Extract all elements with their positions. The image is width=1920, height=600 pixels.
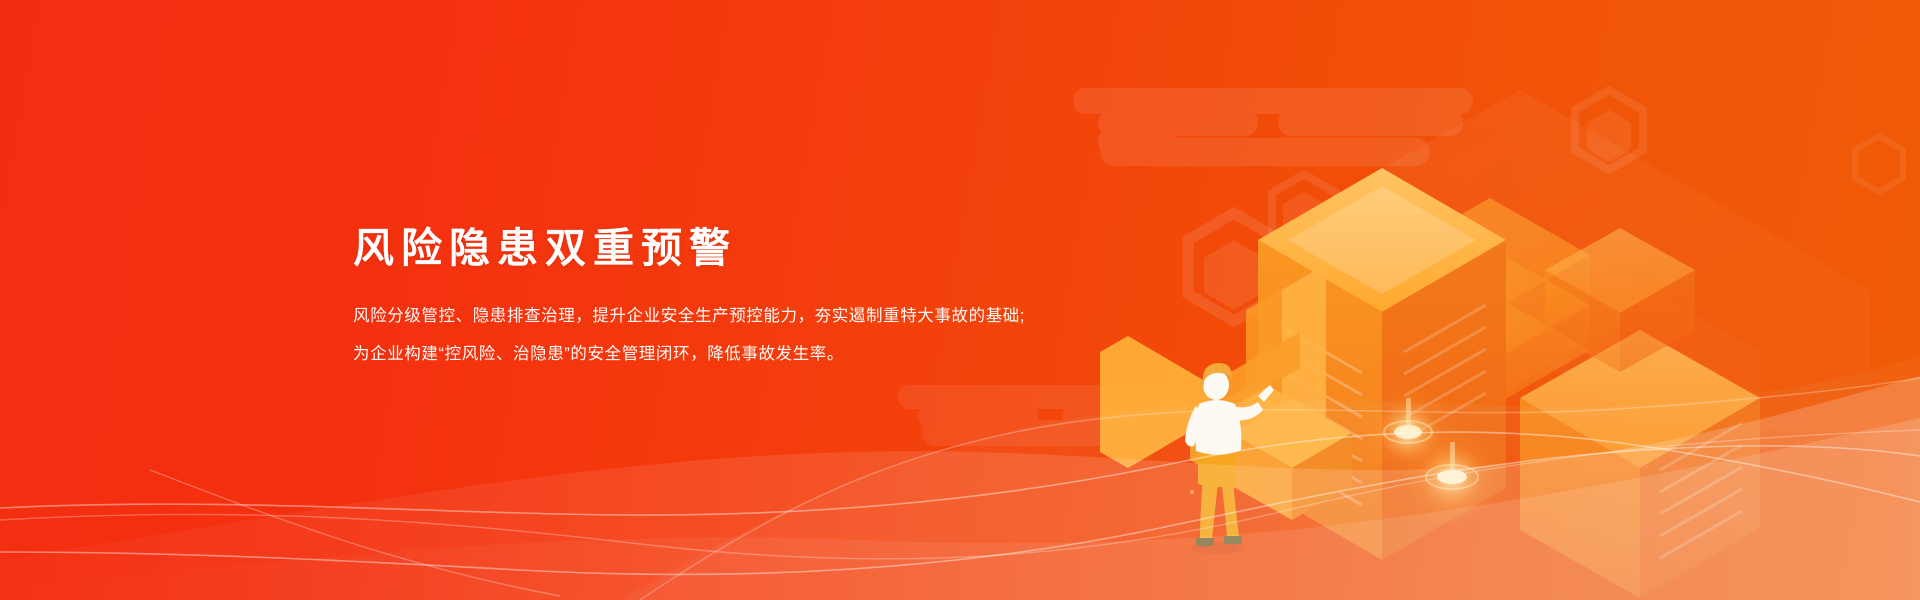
wave-band-2 (0, 418, 1920, 600)
person-shoes (1196, 536, 1242, 547)
banner-copy: 风险隐患双重预警 风险分级管控、隐患排查治理，提升企业安全生产预控能力，夯实遏制… (353, 222, 993, 373)
server-slots-main-right (1404, 305, 1486, 440)
glow-dot-right (1400, 425, 1504, 529)
person-pants (1198, 452, 1239, 540)
person-hair (1203, 363, 1232, 383)
wave-band-1 (0, 376, 1920, 600)
hero-banner: 风险隐患双重预警 风险分级管控、隐患排查治理，提升企业安全生产预控能力，夯实遏制… (0, 0, 1920, 600)
hex-cube-small (1575, 90, 1643, 170)
sparkle-dots (1190, 459, 1231, 503)
backdrop-iso-slab (1300, 90, 1870, 470)
person-shirt (1185, 400, 1241, 455)
person-hand (1258, 385, 1274, 402)
wave-line-2 (0, 446, 1920, 575)
wave-line-1 (0, 432, 1920, 515)
wave-band-3 (620, 356, 1920, 600)
cloud-motif-upper (1073, 88, 1473, 166)
server-slots-rear-right (1660, 423, 1742, 558)
hex-cube-large-inner (1204, 240, 1264, 310)
hex-cube-tiny (1855, 136, 1903, 192)
subtitle-line-1: 风险分级管控、隐患排查治理，提升企业安全生产预控能力，夯实遏制重特大事故的基础; (353, 297, 993, 335)
hex-cube-medium-inner (1283, 192, 1325, 241)
hex-cube-small-inner (1587, 110, 1631, 162)
page-title: 风险隐患双重预警 (353, 222, 993, 274)
hex-cube-large (1188, 213, 1280, 321)
iso-arrow-slab (1100, 332, 1300, 468)
server-tower-main (1258, 168, 1506, 560)
iso-box-foreground (1232, 399, 1352, 520)
server-cube-lower-right (1545, 228, 1695, 372)
person-shadow (1191, 542, 1243, 554)
iso-wing-left (1246, 264, 1326, 446)
iso-platform-left (1190, 380, 1326, 500)
wave-line-5 (0, 430, 1920, 559)
hex-cube-medium (1272, 174, 1336, 250)
server-slots-main-left (1280, 326, 1362, 505)
person-arm (1232, 402, 1263, 421)
glow-dot-left (1360, 384, 1456, 480)
subtitle-line-2: 为企业构建“控风险、治隐患”的安全管理闭环，降低事故发生率。 (353, 335, 993, 373)
banner-subtitle: 风险分级管控、隐患排查治理，提升企业安全生产预控能力，夯实遏制重特大事故的基础;… (353, 297, 993, 373)
server-tower-rear-right (1520, 330, 1760, 598)
server-stack-mid (1390, 198, 1590, 408)
wave-line-3 (150, 470, 560, 596)
cloud-motif-lower (898, 385, 1190, 446)
person-head (1199, 363, 1232, 400)
wave-line-4 (640, 378, 1920, 600)
